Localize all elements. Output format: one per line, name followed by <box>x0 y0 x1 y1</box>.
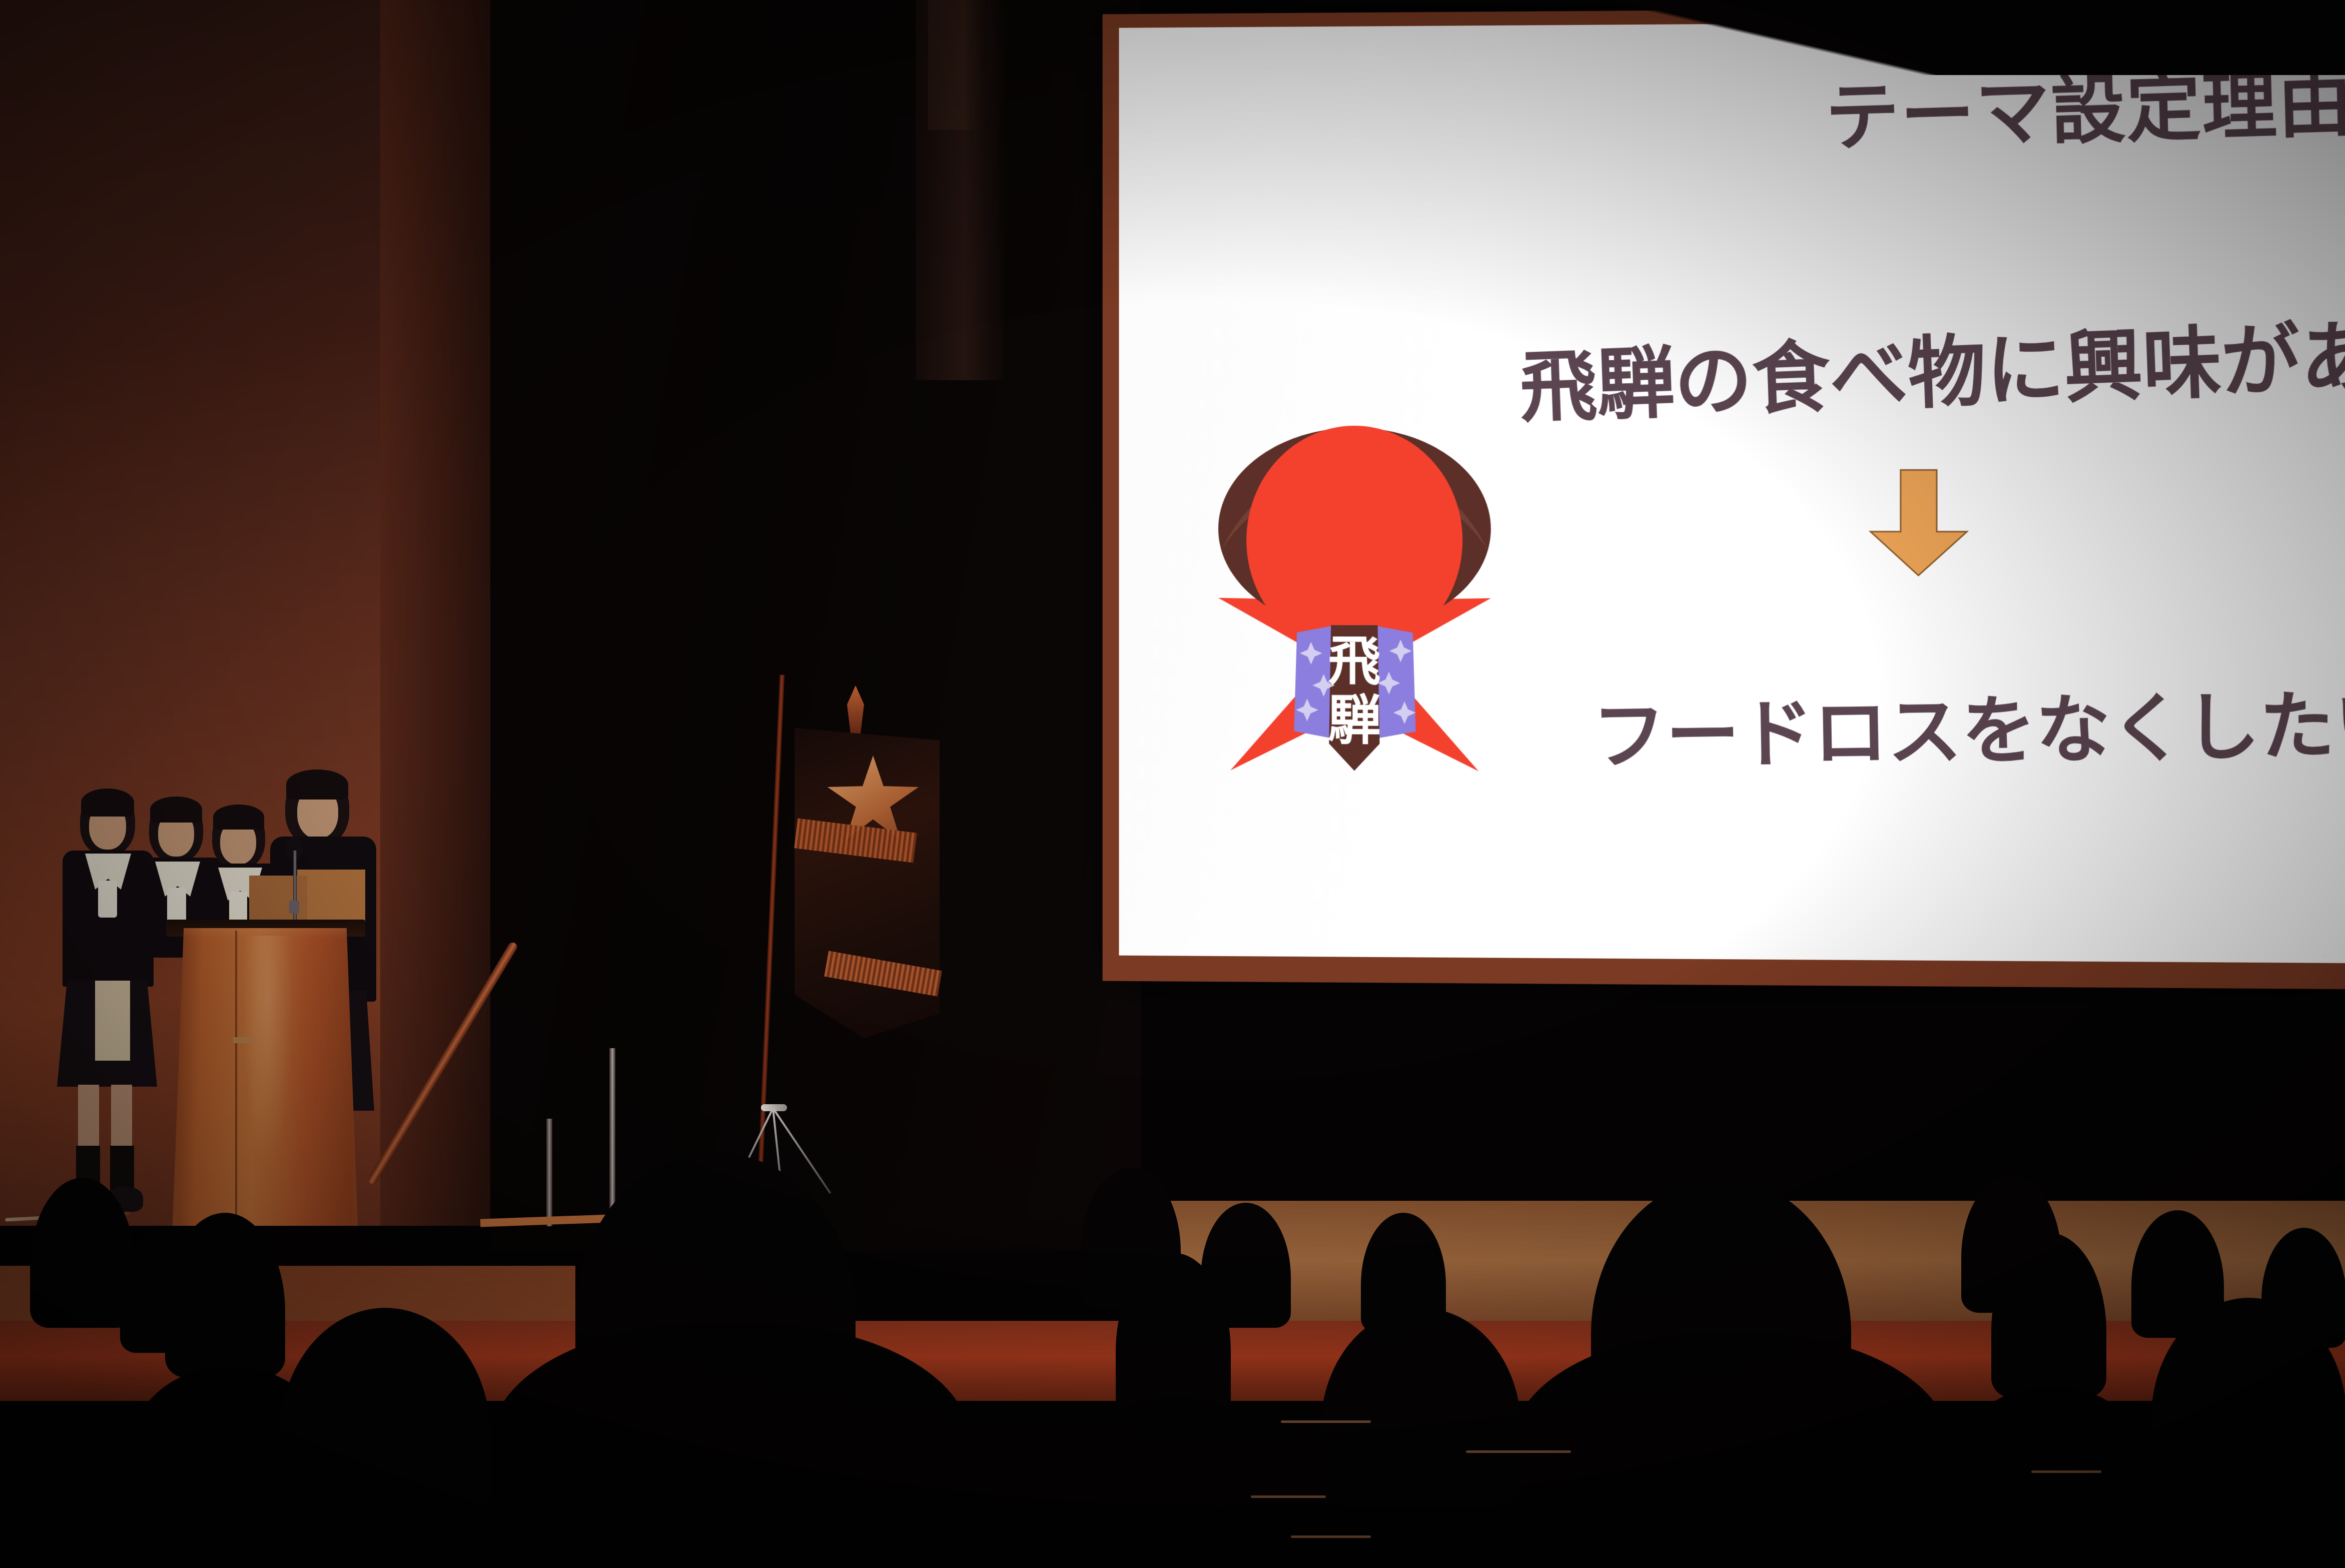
stage-curtain <box>490 0 1141 1251</box>
projection-screen-surface: テーマ設定理由 飛騨の食べ物に興味があ <box>1119 20 2345 963</box>
projection-screen: テーマ設定理由 飛騨の食べ物に興味があ <box>1103 6 2345 989</box>
mascot-bib-kanji-top: 飛 <box>1328 631 1380 693</box>
mascot-bib-kanji-bottom: 騨 <box>1328 690 1380 752</box>
slide-goal-line: フードロスをなくしたい‼ <box>1592 663 2345 784</box>
slide-reason-line: 飛騨の食べ物に興味があ <box>1517 292 2345 438</box>
lectern-latch <box>233 1037 253 1043</box>
microphone-joint <box>289 901 299 914</box>
lectern-seam <box>235 931 237 1226</box>
proscenium-notch <box>928 0 988 130</box>
slide-goal-text: フードロスをなくしたい <box>1592 681 2345 780</box>
handrail-post-front <box>609 1048 615 1213</box>
handrail-post-rear <box>546 1119 552 1226</box>
down-arrow-icon <box>1868 468 1970 578</box>
lectern-wood-grain <box>235 936 300 1216</box>
sarubobo-mascot-icon: 飛 騨 <box>1203 403 1505 799</box>
slide-title: テーマ設定理由 <box>1824 42 2345 166</box>
auditorium-stage-photo: テーマ設定理由 飛騨の食べ物に興味があ <box>0 0 2345 1568</box>
mascot-face <box>1246 426 1462 655</box>
presentation-slide: テーマ設定理由 飛騨の食べ物に興味があ <box>1119 20 2345 963</box>
